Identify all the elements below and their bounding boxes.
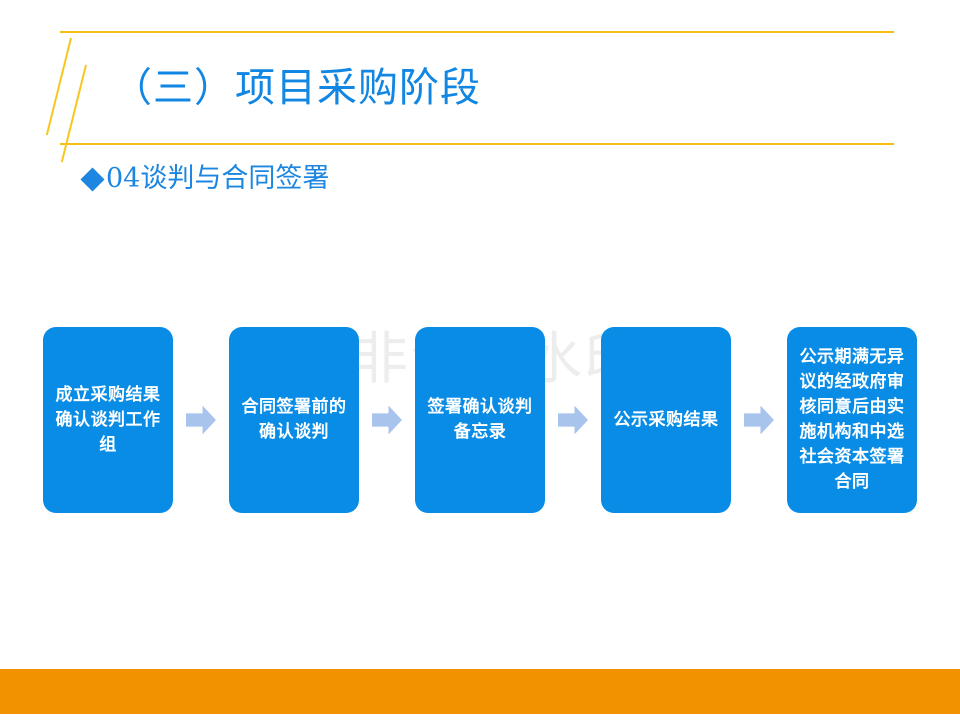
header-rule-bottom [60,143,894,145]
flow-node-label: 成立采购结果确认谈判工作组 [51,383,165,458]
flow-node-2: 合同签署前的确认谈判 [229,327,359,513]
page-title: （三）项目采购阶段 [112,60,481,116]
flow-arrow-3 [545,327,601,513]
right-arrow-icon [744,405,774,435]
decorative-slash-icon-2 [61,65,87,163]
right-arrow-icon [558,405,588,435]
flow-node-3: 签署确认谈判备忘录 [415,327,545,513]
flow-arrow-4 [731,327,787,513]
subheading-label: 04谈判与合同签署 [106,162,329,196]
diamond-bullet-icon [80,167,104,191]
subheading: 04谈判与合同签署 [84,162,329,196]
process-flow-diagram: 成立采购结果确认谈判工作组 合同签署前的确认谈判 签署确认谈判备忘录 公示采购结… [43,327,917,513]
decorative-slash-icon-1 [46,38,72,136]
flow-node-1: 成立采购结果确认谈判工作组 [43,327,173,513]
flow-node-label: 公示期满无异议的经政府审核同意后由实施机构和中选社会资本签署合同 [795,345,909,495]
flow-arrow-2 [359,327,415,513]
flow-node-label: 公示采购结果 [614,408,719,433]
header-rule-top [60,31,894,33]
footer-band [0,669,960,714]
flow-node-label: 合同签署前的确认谈判 [237,395,351,445]
slide-canvas: （三）项目采购阶段 04谈判与合同签署 非会员水印 成立采购结果确认谈判工作组 … [0,0,960,720]
flow-arrow-1 [173,327,229,513]
flow-node-label: 签署确认谈判备忘录 [423,395,537,445]
right-arrow-icon [372,405,402,435]
flow-node-5: 公示期满无异议的经政府审核同意后由实施机构和中选社会资本签署合同 [787,327,917,513]
right-arrow-icon [186,405,216,435]
flow-node-4: 公示采购结果 [601,327,731,513]
